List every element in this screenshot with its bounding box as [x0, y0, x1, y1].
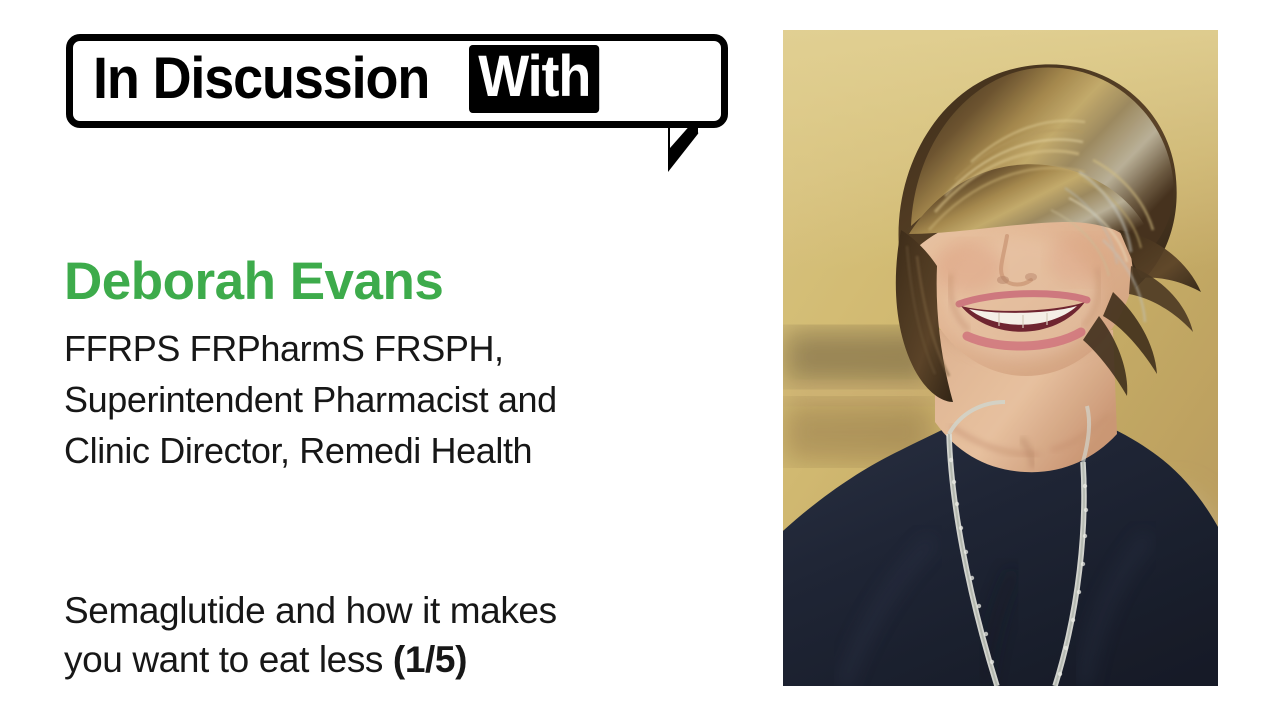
credential-line: FFRPS FRPharmS FRSPH,: [64, 323, 704, 374]
speaker-credentials: FFRPS FRPharmS FRSPH, Superintendent Pha…: [64, 323, 704, 476]
brand-logo: In Discussion With: [62, 30, 738, 180]
slide-canvas: In Discussion With Deborah Evans FFRPS F…: [0, 0, 1280, 720]
speaker-name: Deborah Evans: [64, 253, 443, 311]
caption-line-2-text: you want to eat less: [64, 639, 383, 680]
speech-bubble-icon: In Discussion With: [66, 34, 728, 128]
speaker-portrait-photo: [783, 30, 1218, 686]
episode-caption: Semaglutide and how it makes you want to…: [64, 586, 724, 684]
episode-counter: (1/5): [393, 639, 467, 680]
caption-line-1: Semaglutide and how it makes: [64, 586, 724, 635]
credential-line: Clinic Director, Remedi Health: [64, 425, 704, 476]
portrait-illustration: [783, 30, 1218, 686]
credential-line: Superintendent Pharmacist and: [64, 374, 704, 425]
logo-badge-text: With: [469, 45, 599, 113]
logo-primary-text: In Discussion: [93, 50, 429, 108]
caption-line-2: you want to eat less (1/5): [64, 635, 724, 684]
